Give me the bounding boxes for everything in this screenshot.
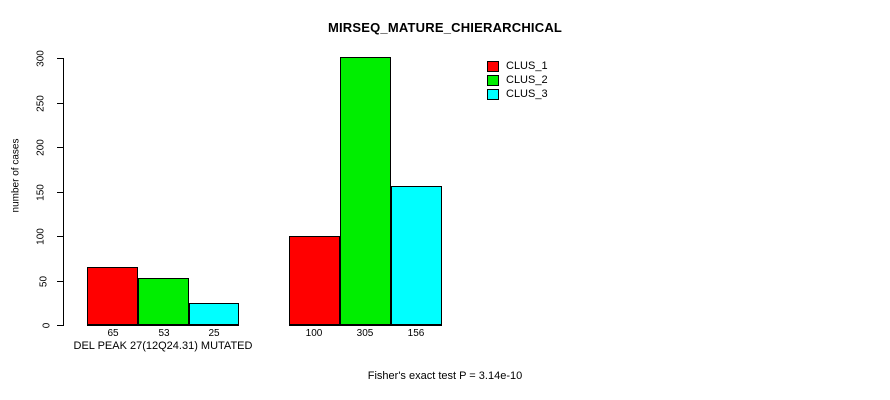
bar-value-label: 305	[345, 328, 385, 339]
statistical-annotation: Fisher's exact test P = 3.14e-10	[0, 370, 890, 382]
bar-clus1-group1[interactable]	[87, 267, 138, 325]
legend-item-clus-3[interactable]: CLUS_3	[487, 87, 548, 101]
baseline-group-1	[87, 325, 239, 326]
legend: CLUS_1 CLUS_2 CLUS_3	[487, 59, 548, 101]
bar-clus1-group2[interactable]	[289, 236, 340, 325]
x-axis-label: DEL PEAK 27(12Q24.31) MUTATED	[43, 340, 283, 352]
legend-label-clus-1: CLUS_1	[506, 61, 548, 72]
baseline-group-2	[289, 325, 442, 326]
y-tick-label-250: 250	[36, 84, 47, 124]
bar-clus3-group1[interactable]	[189, 303, 239, 325]
y-tick-label-300: 300	[36, 39, 47, 79]
y-tick-200	[57, 147, 64, 148]
chart-title: MIRSEQ_MATURE_CHIERARCHICAL	[0, 20, 890, 35]
legend-swatch-icon-clus-2	[487, 75, 499, 86]
y-tick-100	[57, 236, 64, 237]
bar-value-label: 156	[396, 328, 436, 339]
bar-value-label: 25	[194, 328, 234, 339]
bar-value-label: 100	[294, 328, 334, 339]
y-tick-50	[57, 281, 64, 282]
y-tick-300	[57, 58, 64, 59]
y-tick-label-200: 200	[36, 128, 47, 168]
y-axis-label: number of cases	[11, 116, 22, 236]
y-tick-150	[57, 192, 64, 193]
legend-item-clus-2[interactable]: CLUS_2	[487, 73, 548, 87]
y-tick-label-100: 100	[36, 217, 47, 257]
y-tick-0	[57, 325, 64, 326]
bar-clus3-group2[interactable]	[391, 186, 442, 325]
y-tick-250	[57, 103, 64, 104]
bar-value-label: 53	[144, 328, 184, 339]
legend-swatch-icon-clus-3	[487, 89, 499, 100]
y-tick-label-50: 50	[39, 262, 50, 302]
legend-label-clus-2: CLUS_2	[506, 75, 548, 86]
bar-clus2-group2[interactable]	[340, 57, 391, 325]
y-tick-label-150: 150	[36, 173, 47, 213]
chart-canvas: MIRSEQ_MATURE_CHIERARCHICAL number of ca…	[0, 0, 890, 400]
legend-swatch-icon-clus-1	[487, 61, 499, 72]
legend-label-clus-3: CLUS_3	[506, 89, 548, 100]
bar-value-label: 65	[93, 328, 133, 339]
bar-clus2-group1[interactable]	[138, 278, 189, 325]
legend-item-clus-1[interactable]: CLUS_1	[487, 59, 548, 73]
